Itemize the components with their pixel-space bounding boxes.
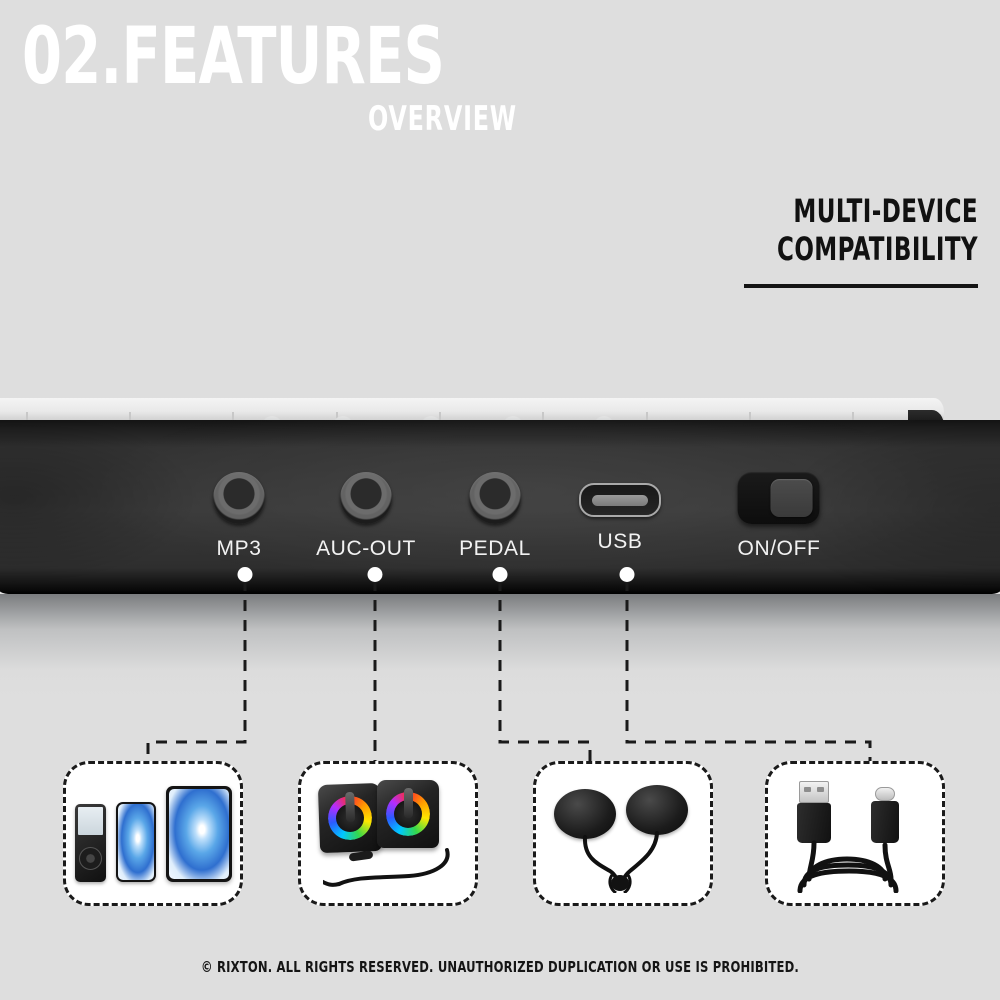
keyboard-device: MP3 AUC-OUT PEDAL USB [0,398,1000,594]
usb-c-port-icon[interactable] [579,483,661,517]
feature-card-pedal[interactable] [533,761,713,906]
connector-dot-usb [620,567,635,582]
toggle-switch-icon[interactable] [738,472,820,524]
section-title: 02.FEATURES OVERVIEW [22,18,542,148]
smartphone-image [116,802,156,882]
rgb-speakers-image [313,776,463,891]
speaker-bar [345,792,355,822]
connector-dot-pedal [493,567,508,582]
usb-cable-image [775,775,935,893]
port-mp3[interactable]: MP3 [213,472,265,561]
tablet-screen [169,789,229,879]
slide-root: 02.FEATURES OVERVIEW MULTI-DEVICE COMPAT… [0,0,1000,1000]
speaker-cable [323,848,455,888]
tablet-image [166,786,232,882]
speaker-right [377,780,439,848]
connector-usb [627,580,870,790]
speaker-bar [404,788,413,818]
device-shadow [0,594,1000,704]
toggle-knob[interactable] [771,479,813,517]
connector-pedal [500,580,590,790]
jack-port-icon[interactable] [213,472,265,524]
jack-port-icon[interactable] [469,472,521,524]
port-label-on-off: ON/OFF [738,537,821,561]
headline-line-1: MULTI-DEVICE [642,192,978,230]
port-label-pedal: PEDAL [459,537,531,561]
port-pedal[interactable]: PEDAL [459,472,531,561]
mp3-screen [78,807,103,835]
feature-card-speakers[interactable] [298,761,478,906]
headline-block: MULTI-DEVICE COMPATIBILITY [558,192,978,288]
port-label-auc-out: AUC-OUT [316,537,416,561]
section-title-sub: OVERVIEW [368,102,504,136]
section-title-main: 02.FEATURES [22,18,448,96]
port-label-mp3: MP3 [213,537,265,561]
port-auc-out[interactable]: AUC-OUT [316,472,416,561]
connector-dot-mp3 [238,567,253,582]
power-switch[interactable]: ON/OFF [738,472,821,561]
device-group [75,786,232,882]
headline-underline [744,284,978,288]
sustain-pedal-image [548,775,698,893]
port-label-usb: USB [579,530,661,554]
footer-copyright: © RIXTON. ALL RIGHTS RESERVED. UNAUTHORI… [70,958,930,976]
mp3-player-image [75,804,106,882]
usb-c-inner-bar [592,495,648,506]
connector-mp3 [148,580,245,790]
coiled-cable [775,775,935,893]
feature-card-devices[interactable] [63,761,243,906]
headline-line-2: COMPATIBILITY [642,230,978,268]
feature-card-cable[interactable] [765,761,945,906]
mp3-wheel [79,847,102,870]
speaker-left [318,783,382,853]
jack-port-icon[interactable] [340,472,392,524]
phone-screen [118,804,154,880]
connector-dot-auc-out [368,567,383,582]
pedal-cable [548,775,698,893]
port-usb[interactable]: USB [579,472,661,554]
